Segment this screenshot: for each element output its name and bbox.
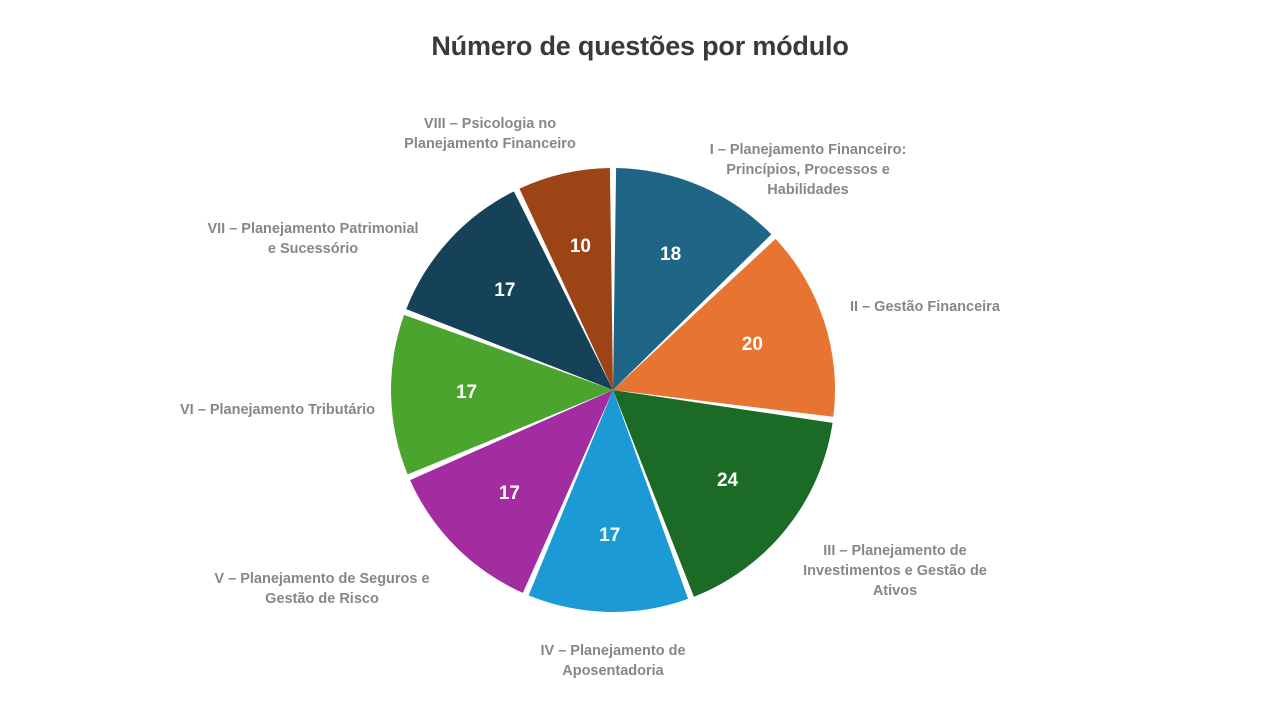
pie-category-label: IV – Planejamento de Aposentadoria — [540, 641, 685, 681]
pie-category-label: VII – Planejamento Patrimonial e Sucessó… — [207, 219, 418, 259]
pie-chart: 1820241717171710 — [383, 160, 843, 620]
pie-chart-svg — [383, 160, 843, 620]
pie-category-label: VIII – Psicologia no Planejamento Financ… — [404, 114, 576, 154]
pie-category-label: VI – Planejamento Tributário — [180, 400, 375, 420]
pie-category-label: II – Gestão Financeira — [850, 297, 1000, 317]
pie-slice-group — [391, 168, 835, 612]
slide-canvas: Número de questões por módulo 1820241717… — [0, 0, 1280, 720]
page-title: Número de questões por módulo — [0, 31, 1280, 62]
pie-category-label: III – Planejamento de Investimentos e Ge… — [803, 541, 987, 601]
pie-category-label: V – Planejamento de Seguros e Gestão de … — [214, 569, 429, 609]
pie-category-label: I – Planejamento Financeiro: Princípios,… — [710, 140, 907, 200]
